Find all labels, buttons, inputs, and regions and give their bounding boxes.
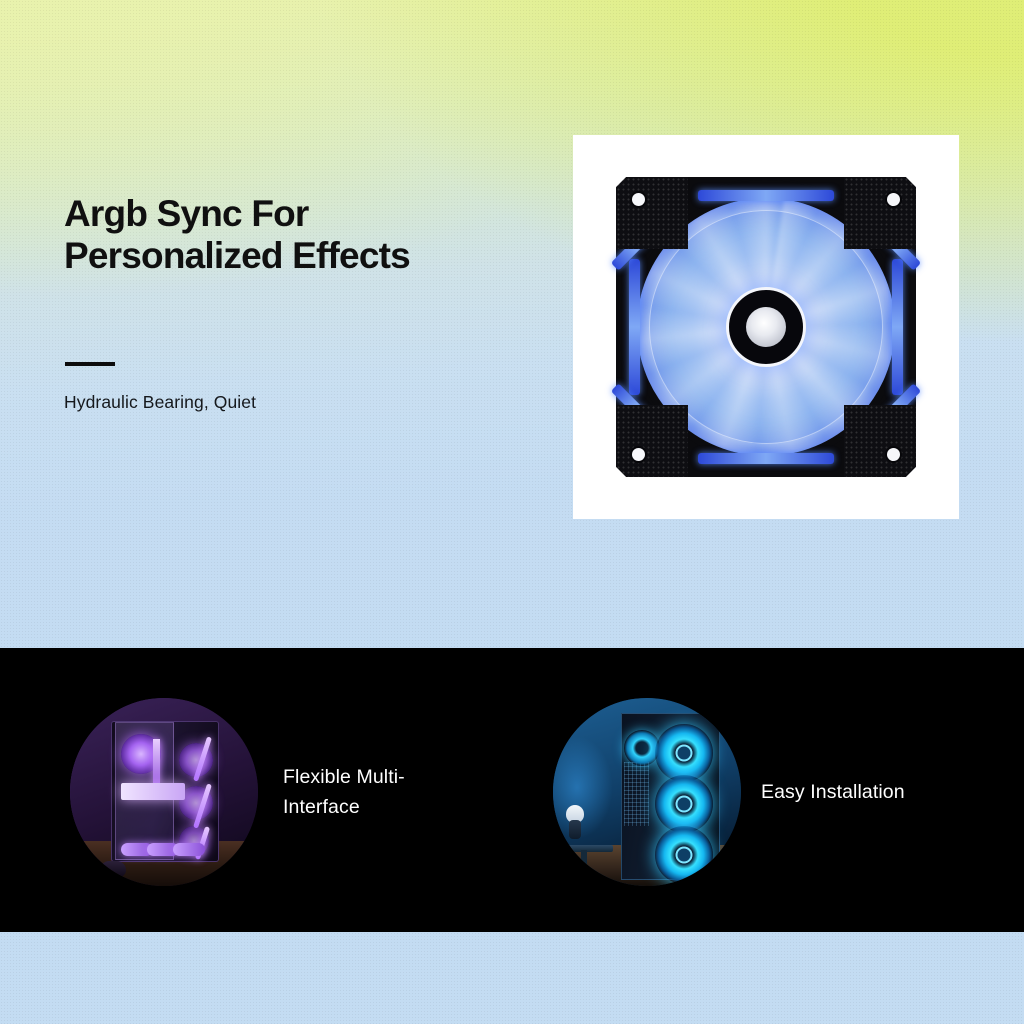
feature-label: Easy Installation [761,777,971,807]
mount-pad-top-left [616,177,688,249]
fan-hub [675,846,692,863]
screw-hole-bottom-left [632,448,645,461]
headline-line-2: Personalized Effects [64,235,564,277]
figurine [564,805,586,839]
led-strip-bottom [698,453,834,464]
product-image-card [573,135,959,519]
hero-section: Argb Sync For Personalized Effects Hydra… [0,0,1024,648]
bottom-rgb-fan [173,843,205,856]
table-leg [581,850,587,871]
ram-module [153,739,160,784]
case-mesh-panel [624,762,648,826]
purple-rgb-pc-build-image [70,698,258,886]
mouse [100,861,126,877]
feature-flexible-multi-interface: Flexible Multi- Interface [70,698,458,886]
footer-strip [0,932,1024,1024]
blue-pc-artwork [553,698,741,886]
divider-rule [65,362,115,366]
fan-hub [675,796,692,813]
subtitle: Hydraulic Bearing, Quiet [64,392,534,413]
mount-pad-bottom-left [616,405,688,477]
headline-line-1: Argb Sync For [64,193,309,234]
led-strip-top [698,190,834,201]
grain-overlay [0,932,1024,1024]
screw-hole-top-right [887,193,900,206]
fan-hub [726,287,806,367]
feature-label-line-1: Flexible Multi- [283,766,405,788]
feature-label-line-2: Interface [283,796,360,818]
screw-hole-bottom-right [887,448,900,461]
led-strip-left [629,259,640,395]
front-rgb-fan [655,724,713,782]
purple-pc-artwork [70,698,258,886]
graphics-card [121,783,185,800]
mount-pad-bottom-right [844,405,916,477]
figurine-body [569,820,581,839]
argb-case-fan-image [616,177,916,477]
fan-hub [675,745,692,762]
screw-hole-top-left [632,193,645,206]
product-marketing-page: Argb Sync For Personalized Effects Hydra… [0,0,1024,1024]
feature-label: Flexible Multi- Interface [283,762,458,822]
fan-hub-cap [746,307,786,347]
front-rgb-fan [655,826,713,884]
front-rgb-fan [655,775,713,833]
mount-pad-top-right [844,177,916,249]
blue-rgb-pc-build-image [553,698,741,886]
feature-easy-installation: Easy Installation [553,698,971,886]
led-strip-right [892,259,903,395]
page-title: Argb Sync For Personalized Effects [64,193,564,277]
